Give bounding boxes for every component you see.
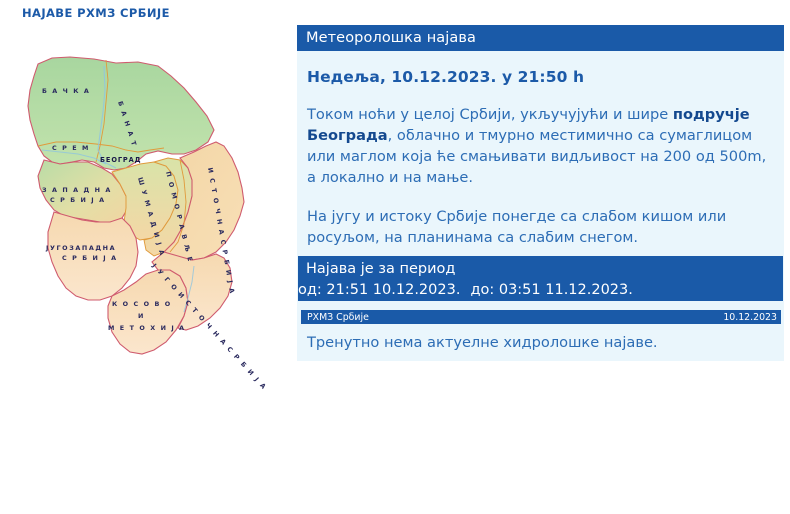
serbia-map: Б А Ч К А Б А Н А Т С Р Е М БЕОГРАД З А …: [8, 50, 278, 398]
serbia-map-svg: Б А Ч К А Б А Н А Т С Р Е М БЕОГРАД З А …: [8, 50, 278, 398]
map-label-zapadna-srbija-line1: З А П А Д Н А: [42, 186, 112, 194]
page-title: НАЈАВЕ РХМЗ СРБИЈЕ: [22, 6, 170, 20]
map-label-kosovo-line3: М Е Т О Х И Ј А: [108, 324, 186, 332]
forecast-paragraph-2: На југу и истоку Србије понегде са слабо…: [307, 206, 775, 248]
announcement-date: Недеља, 10.12.2023. у 21:50 h: [307, 68, 584, 86]
period-box: Најава је за период од: 21:51 10.12.2023…: [298, 256, 783, 301]
map-label-zapadna-srbija-line2: С Р Б И Ј А: [50, 196, 106, 204]
map-label-kosovo-line2: И: [138, 312, 145, 320]
period-title: Најава је за период: [298, 259, 783, 280]
period-to-value: 03:51 11.12.2023.: [499, 282, 633, 298]
period-to-label: до:: [470, 282, 494, 298]
period-from-value: 21:51 10.12.2023.: [326, 282, 460, 298]
map-label-kosovo-line1: К О С О В О: [112, 300, 172, 308]
announcement-panel: Метеоролошка најава Недеља, 10.12.2023. …: [297, 25, 784, 361]
hydro-source-bar: РХМЗ Србије 10.12.2023: [301, 310, 781, 324]
hydro-message: Тренутно нема актуелне хидролошке најаве…: [307, 332, 658, 353]
meteo-header-bar: Метеоролошка најава: [297, 25, 784, 51]
hydro-source-date: 10.12.2023: [723, 312, 777, 323]
hydro-source-label: РХМЗ Србије: [307, 312, 369, 323]
forecast-paragraph-1: Током ноћи у целој Србији, укључујући и …: [307, 104, 775, 188]
forecast-p1-before: Током ноћи у целој Србији, укључујући и …: [307, 106, 673, 123]
map-label-jugozapadna-line1: ЈУГОЗАПАДНА: [45, 244, 116, 252]
map-label-beograd: БЕОГРАД: [100, 156, 141, 164]
map-label-backa: Б А Ч К А: [42, 87, 90, 95]
period-range: од: 21:51 10.12.2023.до: 03:51 11.12.202…: [298, 280, 783, 301]
map-label-srem: С Р Е М: [52, 144, 90, 152]
period-from-label: од:: [298, 282, 322, 298]
map-label-jugozapadna-line2: С Р Б И Ј А: [62, 254, 118, 262]
meteo-header-title: Метеоролошка најава: [297, 30, 476, 46]
page-root: НАЈАВЕ РХМЗ СРБИЈЕ: [0, 0, 790, 514]
